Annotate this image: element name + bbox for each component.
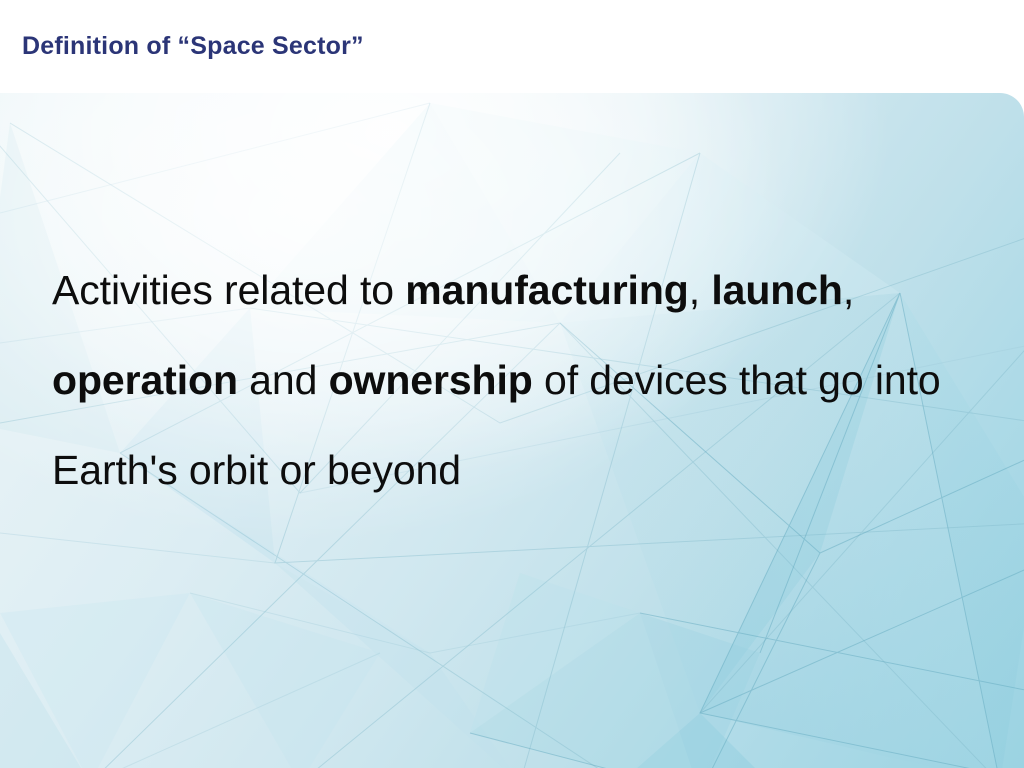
body-text-emphasis: ownership [329,357,533,403]
body-text-emphasis: launch [711,267,843,313]
body-text-emphasis: operation [52,357,238,403]
body-text-run: Activities related to [52,267,405,313]
body-text-run: , [689,267,712,313]
content-panel: Activities related to manufacturing, lau… [0,93,1024,768]
body-text: Activities related to manufacturing, lau… [52,245,952,515]
body-text-emphasis: manufacturing [405,267,688,313]
page-title: Definition of “Space Sector” [22,33,364,61]
slide-header: Definition of “Space Sector” [0,0,1024,93]
body-text-run: , [843,267,854,313]
slide: Definition of “Space Sector” [0,0,1024,768]
body-text-run: and [238,357,329,403]
